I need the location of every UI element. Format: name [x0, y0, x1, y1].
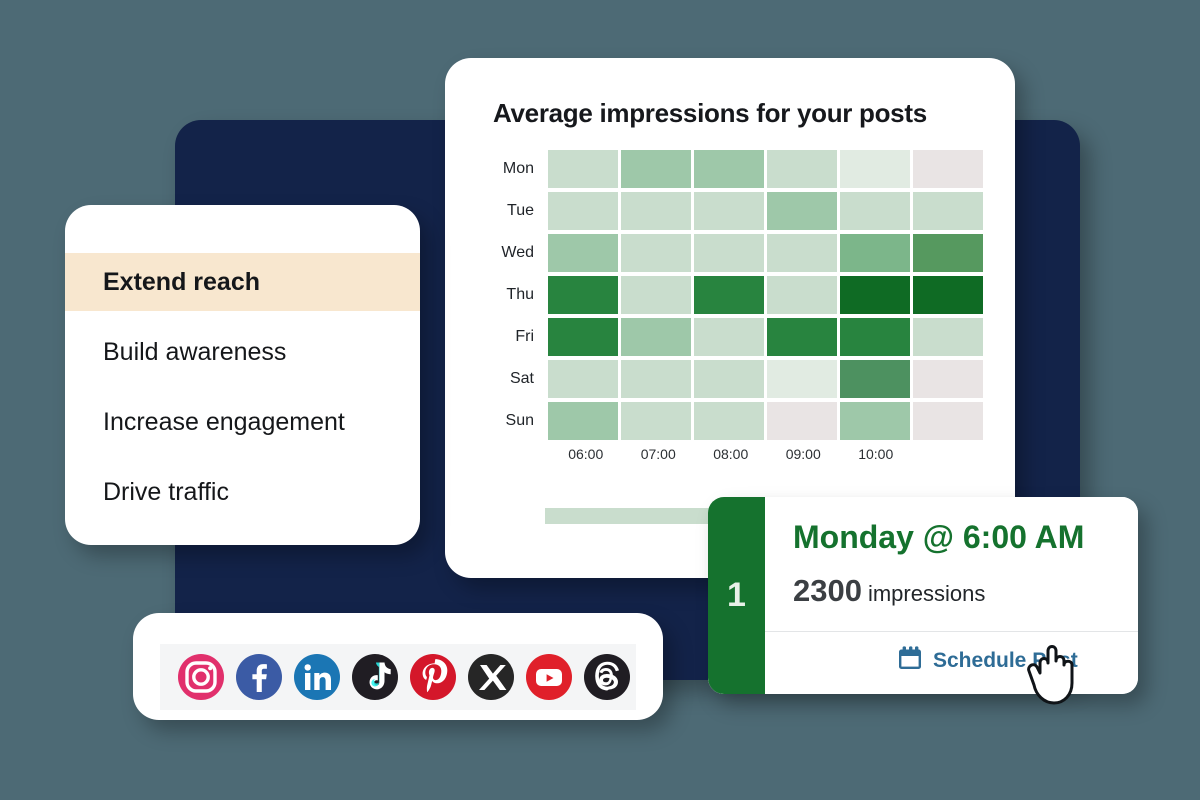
heatmap-cell-sat-5[interactable] [913, 360, 983, 398]
goal-item-label: Build awareness [103, 338, 286, 366]
heatmap-day-label: Sat [493, 370, 548, 388]
rank-badge: 1 [708, 497, 765, 694]
heatmap-cell-tue-4[interactable] [840, 192, 910, 230]
youtube-icon[interactable] [526, 654, 572, 700]
heatmap-cell-wed-2[interactable] [694, 234, 764, 272]
heatmap-cells [548, 234, 983, 272]
heatmap-cell-sat-2[interactable] [694, 360, 764, 398]
facebook-icon[interactable] [236, 654, 282, 700]
heatmap-cell-sun-2[interactable] [694, 402, 764, 440]
impressions-heatmap: MonTueWedThuFriSatSun06:0007:0008:0009:0… [493, 150, 983, 462]
goal-item-label: Drive traffic [103, 478, 229, 506]
heatmap-cell-sat-3[interactable] [767, 360, 837, 398]
heatmap-day-label: Fri [493, 328, 548, 346]
heatmap-time-label: 08:00 [696, 446, 766, 462]
goal-item-build-awareness[interactable]: Build awareness [65, 323, 420, 381]
heatmap-row: Thu [493, 276, 983, 314]
heatmap-cell-thu-0[interactable] [548, 276, 618, 314]
heatmap-cell-wed-4[interactable] [840, 234, 910, 272]
heatmap-cell-sun-0[interactable] [548, 402, 618, 440]
goals-list: Extend reachBuild awarenessIncrease enga… [65, 253, 420, 521]
heatmap-cell-mon-3[interactable] [767, 150, 837, 188]
heatmap-cell-tue-1[interactable] [621, 192, 691, 230]
heatmap-cells [548, 402, 983, 440]
heatmap-row: Mon [493, 150, 983, 188]
pinterest-icon[interactable] [410, 654, 456, 700]
goal-item-extend-reach[interactable]: Extend reach [65, 253, 420, 311]
best-time-label: Monday @ 6:00 AM [793, 519, 1084, 556]
divider [765, 631, 1138, 632]
x-icon[interactable] [468, 654, 514, 700]
heatmap-cell-sun-3[interactable] [767, 402, 837, 440]
heatmap-time-label: 10:00 [841, 446, 911, 462]
heatmap-cell-sat-0[interactable] [548, 360, 618, 398]
heatmap-row: Sat [493, 360, 983, 398]
heatmap-cell-sun-4[interactable] [840, 402, 910, 440]
heatmap-row: Tue [493, 192, 983, 230]
heatmap-cells [548, 360, 983, 398]
social-icons-strip [160, 644, 636, 710]
best-time-popup: 1 Monday @ 6:00 AM 2300impressions [708, 497, 1138, 694]
heatmap-cell-mon-2[interactable] [694, 150, 764, 188]
heatmap-cell-sun-1[interactable] [621, 402, 691, 440]
heatmap-cell-thu-3[interactable] [767, 276, 837, 314]
schedule-post-button[interactable]: Schedule Post [897, 645, 1078, 676]
heatmap-cell-mon-1[interactable] [621, 150, 691, 188]
heatmap-cell-thu-5[interactable] [913, 276, 983, 314]
heatmap-cell-tue-3[interactable] [767, 192, 837, 230]
heatmap-cells [548, 276, 983, 314]
heatmap-day-label: Sun [493, 412, 548, 430]
heatmap-cell-tue-2[interactable] [694, 192, 764, 230]
heatmap-cell-sun-5[interactable] [913, 402, 983, 440]
calendar-icon [897, 645, 923, 676]
heatmap-cell-mon-0[interactable] [548, 150, 618, 188]
heatmap-cell-mon-5[interactable] [913, 150, 983, 188]
heatmap-row: Sun [493, 402, 983, 440]
page-title: Average impressions for your posts [493, 98, 927, 129]
heatmap-time-label: 09:00 [769, 446, 839, 462]
goal-item-label: Extend reach [103, 268, 260, 296]
heatmap-cells [548, 192, 983, 230]
heatmap-time-axis: 06:0007:0008:0009:0010:00 [551, 446, 983, 462]
heatmap-cell-wed-5[interactable] [913, 234, 983, 272]
heatmap-cell-fri-0[interactable] [548, 318, 618, 356]
heatmap-cell-sat-1[interactable] [621, 360, 691, 398]
tiktok-icon[interactable] [352, 654, 398, 700]
heatmap-cell-fri-2[interactable] [694, 318, 764, 356]
heatmap-cell-tue-5[interactable] [913, 192, 983, 230]
heatmap-cell-tue-0[interactable] [548, 192, 618, 230]
goal-item-drive-traffic[interactable]: Drive traffic [65, 463, 420, 521]
heatmap-cells [548, 150, 983, 188]
goal-item-increase-engagement[interactable]: Increase engagement [65, 393, 420, 451]
impressions-unit: impressions [868, 581, 985, 606]
heatmap-cell-fri-4[interactable] [840, 318, 910, 356]
heatmap-cell-fri-5[interactable] [913, 318, 983, 356]
heatmap-day-label: Mon [493, 160, 548, 178]
threads-icon[interactable] [584, 654, 630, 700]
impressions-metric: 2300impressions [793, 573, 985, 609]
heatmap-cell-thu-2[interactable] [694, 276, 764, 314]
goal-item-label: Increase engagement [103, 408, 345, 436]
social-networks-card [133, 613, 663, 720]
composition-stage: Average impressions for your posts MonTu… [0, 0, 1200, 800]
heatmap-cells [548, 318, 983, 356]
schedule-post-label: Schedule Post [933, 649, 1078, 673]
heatmap-cell-fri-3[interactable] [767, 318, 837, 356]
linkedin-icon[interactable] [294, 654, 340, 700]
heatmap-day-label: Thu [493, 286, 548, 304]
heatmap-day-label: Tue [493, 202, 548, 220]
heatmap-row: Fri [493, 318, 983, 356]
heatmap-cell-fri-1[interactable] [621, 318, 691, 356]
heatmap-cell-wed-3[interactable] [767, 234, 837, 272]
heatmap-cell-thu-1[interactable] [621, 276, 691, 314]
heatmap-cell-mon-4[interactable] [840, 150, 910, 188]
heatmap-cell-wed-0[interactable] [548, 234, 618, 272]
heatmap-day-label: Wed [493, 244, 548, 262]
heatmap-time-label: 07:00 [624, 446, 694, 462]
goals-menu-card: Extend reachBuild awarenessIncrease enga… [65, 205, 420, 545]
heatmap-time-label [914, 446, 984, 462]
heatmap-cell-wed-1[interactable] [621, 234, 691, 272]
instagram-icon[interactable] [178, 654, 224, 700]
heatmap-cell-sat-4[interactable] [840, 360, 910, 398]
heatmap-row: Wed [493, 234, 983, 272]
impressions-value: 2300 [793, 573, 862, 608]
heatmap-cell-thu-4[interactable] [840, 276, 910, 314]
heatmap-time-label: 06:00 [551, 446, 621, 462]
